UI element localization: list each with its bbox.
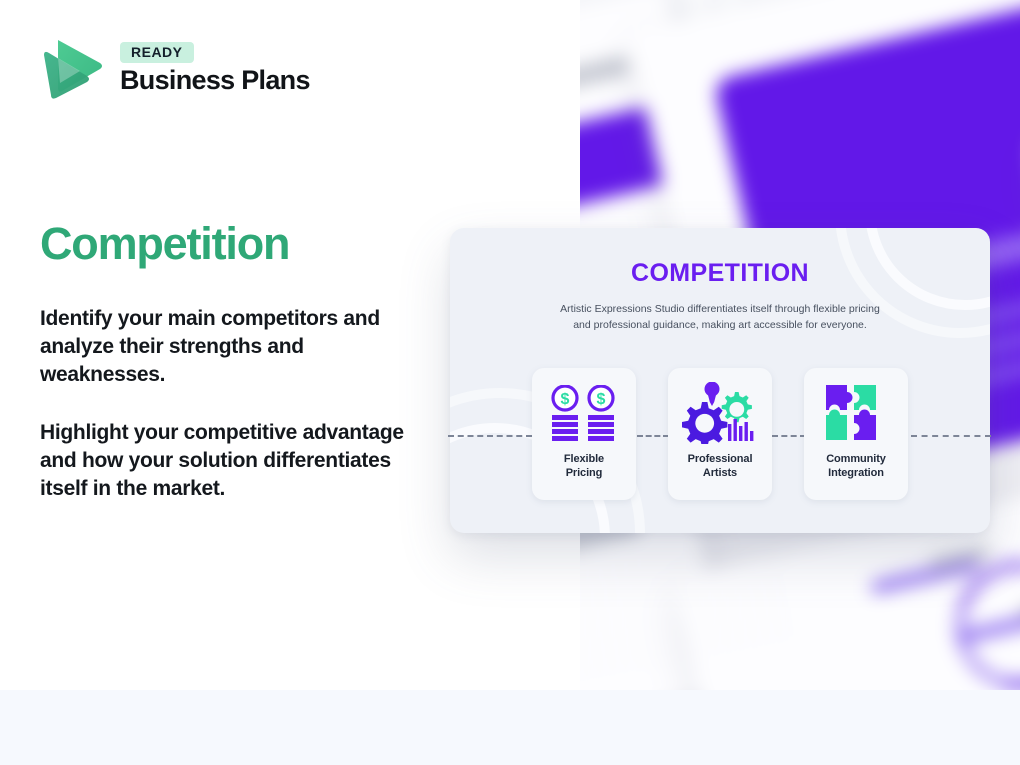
feature-card-community-integration[interactable]: Community Integration <box>804 368 908 500</box>
ready-badge: READY <box>120 42 194 63</box>
puzzle-pieces-icon <box>823 368 889 452</box>
paragraph-2: Highlight your competitive advantage and… <box>40 419 420 503</box>
brand-text: READY Business Plans <box>120 42 310 96</box>
body-copy: Identify your main competitors and analy… <box>40 305 420 503</box>
coins-stack-icon: $ $ <box>548 368 620 452</box>
svg-text:$: $ <box>561 391 570 408</box>
feature-card-flexible-pricing[interactable]: $ $ Flexible Pricing <box>532 368 636 500</box>
paragraph-1: Identify your main competitors and analy… <box>40 305 420 389</box>
label-line-1: Community <box>826 453 886 465</box>
label-line-1: Professional <box>688 453 753 465</box>
label-line-2: Pricing <box>566 467 603 479</box>
feature-card-label: Professional Artists <box>688 452 753 480</box>
connector-dash-left <box>448 435 532 437</box>
feature-card-label: Community Integration <box>826 452 886 480</box>
slide-page: READY Business Plans Competition Identif… <box>0 0 1020 765</box>
brand-name: Business Plans <box>120 66 310 96</box>
connector-dash-mid-2 <box>772 435 806 437</box>
slide-subtitle: Artistic Expressions Studio differentiat… <box>560 302 880 334</box>
svg-text:$: $ <box>597 391 606 408</box>
label-line-2: Artists <box>703 467 737 479</box>
slide-title: COMPETITION <box>450 259 990 288</box>
feature-card-label: Flexible Pricing <box>564 452 604 480</box>
brand-logo[interactable]: READY Business Plans <box>40 36 310 102</box>
feature-card-professional-artists[interactable]: Professional Artists <box>668 368 772 500</box>
connector-dash-mid-1 <box>637 435 669 437</box>
label-line-1: Flexible <box>564 453 604 465</box>
connector-dash-right <box>911 435 991 437</box>
page-title: Competition <box>40 218 289 270</box>
play-triangle-logo-icon <box>40 36 106 102</box>
bottom-band <box>0 690 1020 765</box>
label-line-2: Integration <box>828 467 884 479</box>
gears-idea-icon <box>681 368 759 452</box>
